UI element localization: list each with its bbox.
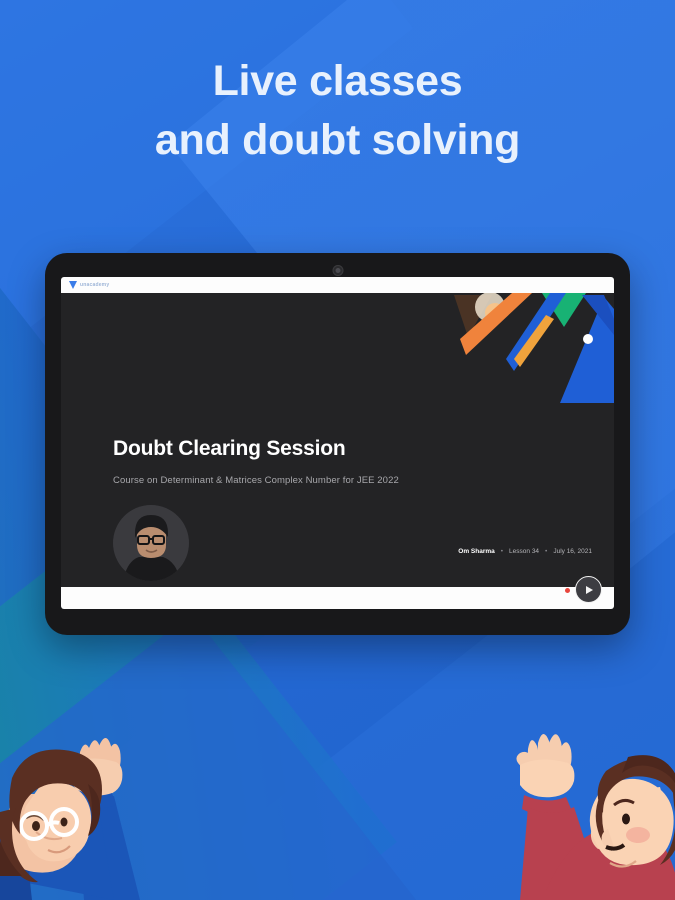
headline-line-2: and doubt solving [0, 111, 675, 170]
man-raising-hand-icon [486, 695, 675, 900]
instructor-avatar-icon [113, 505, 189, 581]
abstract-shapes-graphic-icon [454, 293, 614, 403]
headline: Live classes and doubt solving [0, 52, 675, 171]
lesson-slide: Doubt Clearing Session Course on Determi… [61, 293, 614, 587]
play-button[interactable] [575, 576, 602, 603]
tablet-device: unacademy [45, 253, 630, 635]
woman-raising-hand-icon [0, 690, 207, 900]
lesson-number: Lesson 34 [509, 548, 539, 555]
app-bar: unacademy [61, 277, 614, 293]
meta-separator-2: • [545, 548, 547, 555]
slide-title: Doubt Clearing Session [113, 437, 345, 461]
play-icon [586, 586, 593, 594]
camera-dot-icon [332, 265, 343, 276]
promo-screen: Live classes and doubt solving unacademy [0, 0, 675, 900]
unacademy-logo-mark-icon [69, 281, 77, 289]
slide-subtitle: Course on Determinant & Matrices Complex… [113, 475, 399, 486]
tablet-screen: unacademy [61, 277, 614, 609]
player-bottom-bar [61, 587, 614, 609]
record-dot-icon [565, 588, 570, 593]
app-logo-wordmark: unacademy [80, 282, 109, 288]
meta-separator-1: • [501, 548, 503, 555]
instructor-name: Om Sharma [458, 548, 495, 555]
lesson-date: July 16, 2021 [553, 548, 592, 555]
headline-line-1: Live classes [213, 57, 463, 105]
lesson-meta: Om Sharma • Lesson 34 • July 16, 2021 [458, 548, 592, 555]
